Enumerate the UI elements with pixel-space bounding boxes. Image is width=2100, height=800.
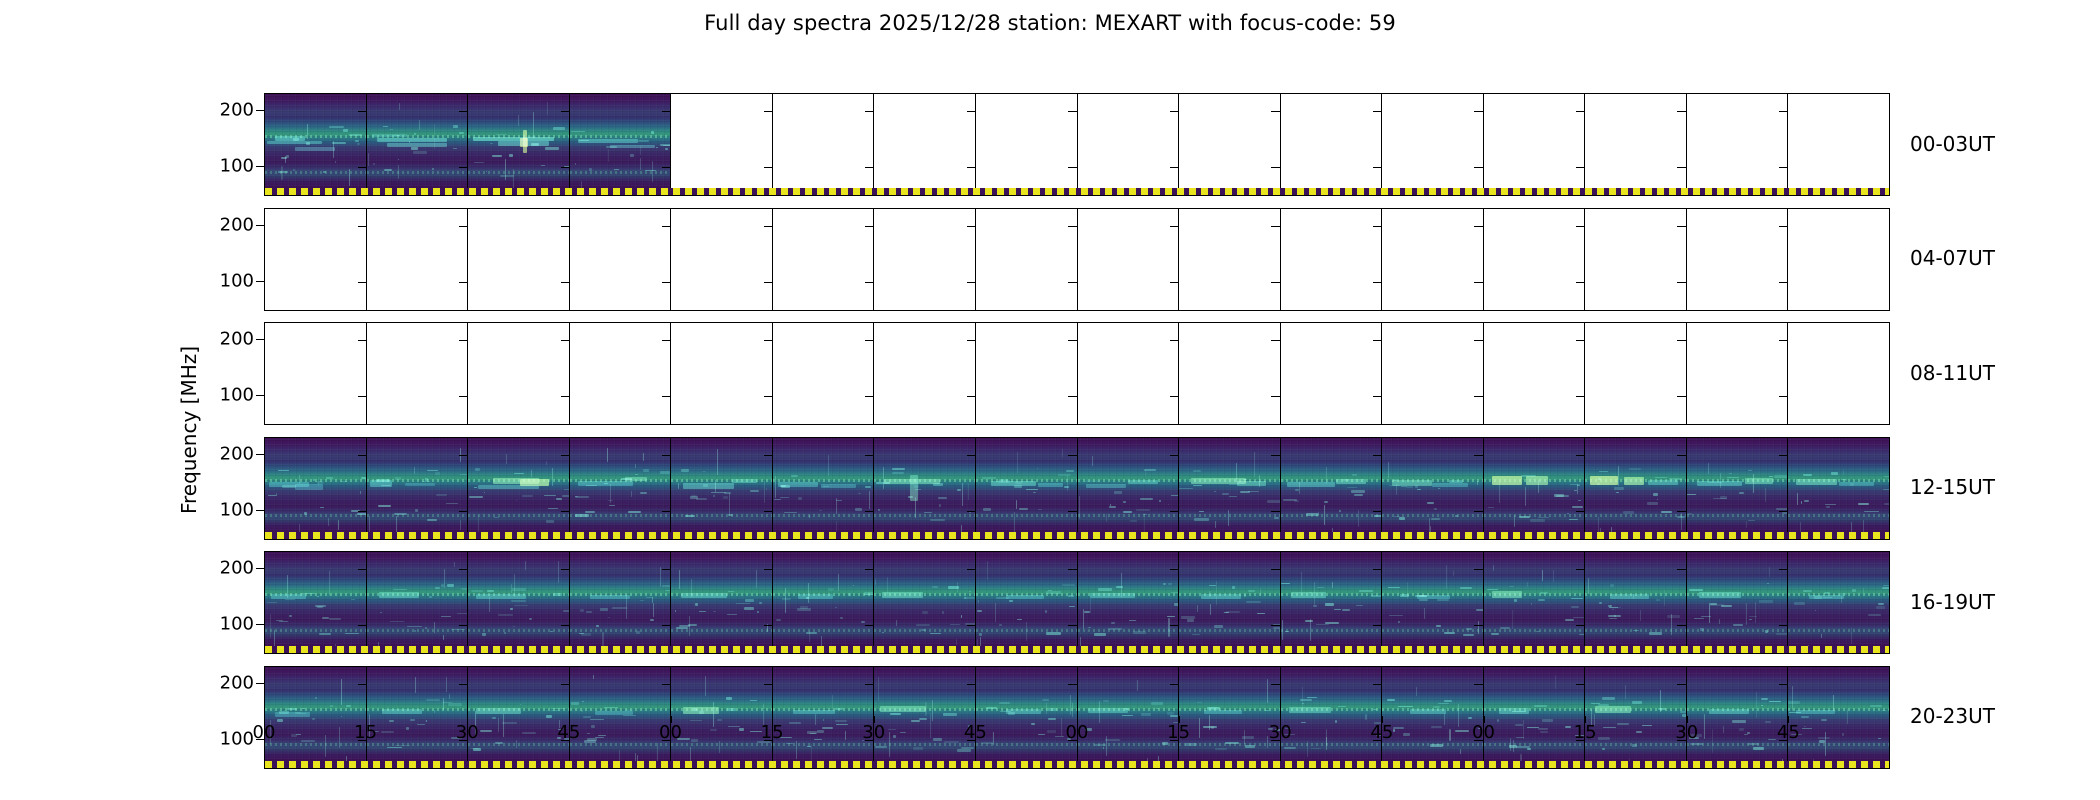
minor-tick xyxy=(1576,569,1585,570)
minor-tick xyxy=(1677,625,1686,626)
spectra-row-08-11ut[interactable] xyxy=(264,322,1890,425)
hour-panel[interactable] xyxy=(1281,552,1383,653)
minor-tick xyxy=(1779,511,1788,512)
hour-panel[interactable] xyxy=(468,438,570,539)
hour-panel[interactable] xyxy=(1382,94,1484,195)
minor-tick xyxy=(662,111,671,112)
minor-tick xyxy=(1779,226,1788,227)
low-frequency-marker-line xyxy=(265,532,1889,539)
hour-panel[interactable] xyxy=(1078,552,1180,653)
spectrogram-image xyxy=(976,438,1077,539)
hour-panel[interactable] xyxy=(1382,438,1484,539)
minor-tick xyxy=(1576,226,1585,227)
hour-panel[interactable] xyxy=(1281,323,1383,424)
row-time-label: 20-23UT xyxy=(1910,704,1995,728)
minor-tick xyxy=(1170,625,1179,626)
hour-panels xyxy=(265,438,1889,539)
row-axes[interactable] xyxy=(264,322,1890,425)
y-tick-mark xyxy=(256,568,264,569)
spectrogram-image xyxy=(570,552,671,653)
minor-tick xyxy=(764,684,773,685)
minor-tick xyxy=(1474,226,1483,227)
low-frequency-marker-line xyxy=(265,188,1889,195)
hour-panel[interactable] xyxy=(976,552,1078,653)
spectrogram-image xyxy=(671,552,772,653)
minor-tick xyxy=(967,455,976,456)
hour-panels xyxy=(265,323,1889,424)
x-tick-label: 15 xyxy=(761,722,784,743)
hour-panel[interactable] xyxy=(1585,552,1687,653)
hour-panel[interactable] xyxy=(671,209,773,310)
y-axis-label-text: Frequency [MHz] xyxy=(177,346,201,514)
minor-tick xyxy=(1677,684,1686,685)
spectrogram-image xyxy=(671,438,772,539)
spectrogram-image xyxy=(1687,552,1788,653)
minor-tick xyxy=(1373,282,1382,283)
hour-panel[interactable] xyxy=(265,552,367,653)
hour-panel[interactable] xyxy=(468,323,570,424)
minor-tick xyxy=(967,226,976,227)
y-tick-mark xyxy=(256,166,264,167)
minor-tick xyxy=(1170,511,1179,512)
minor-tick xyxy=(865,282,874,283)
y-tick-mark xyxy=(256,339,264,340)
spectra-row-16-19ut[interactable] xyxy=(264,551,1890,654)
y-tick-mark xyxy=(256,683,264,684)
minor-tick xyxy=(662,455,671,456)
row-time-label: 16-19UT xyxy=(1910,590,1995,614)
hour-panel[interactable] xyxy=(1484,323,1586,424)
minor-tick xyxy=(358,511,367,512)
hour-panel[interactable] xyxy=(1687,438,1789,539)
hour-panel[interactable] xyxy=(874,209,976,310)
spectrogram-image xyxy=(1179,552,1280,653)
hour-panel[interactable] xyxy=(976,94,1078,195)
spectrogram-image xyxy=(570,94,671,195)
spectrogram-image xyxy=(367,552,468,653)
row-axes[interactable] xyxy=(264,93,1890,196)
y-tick-label: 200 xyxy=(220,443,254,464)
minor-tick xyxy=(1779,684,1788,685)
spectrogram-image xyxy=(265,552,366,653)
minor-tick xyxy=(1271,396,1280,397)
minor-tick xyxy=(1677,569,1686,570)
minor-tick xyxy=(1373,111,1382,112)
row-axes[interactable] xyxy=(264,437,1890,540)
x-tick-label: 45 xyxy=(557,722,580,743)
minor-tick xyxy=(1474,396,1483,397)
hour-panel[interactable] xyxy=(1484,552,1586,653)
minor-tick xyxy=(1576,684,1585,685)
spectra-row-12-15ut[interactable] xyxy=(264,437,1890,540)
y-axis-label: Frequency [MHz] xyxy=(176,300,202,560)
minor-tick xyxy=(561,340,570,341)
minor-tick xyxy=(1271,569,1280,570)
minor-tick xyxy=(358,226,367,227)
minor-tick xyxy=(1677,396,1686,397)
hour-panel[interactable] xyxy=(874,323,976,424)
hour-panel[interactable] xyxy=(570,209,672,310)
hour-panel[interactable] xyxy=(367,209,469,310)
minor-tick xyxy=(662,340,671,341)
minor-tick xyxy=(967,569,976,570)
y-tick-mark xyxy=(256,739,264,740)
minor-tick xyxy=(865,569,874,570)
spectrogram-image xyxy=(1179,438,1280,539)
minor-tick xyxy=(967,340,976,341)
hour-panel[interactable] xyxy=(1382,209,1484,310)
minor-tick xyxy=(1170,111,1179,112)
hour-panel[interactable] xyxy=(1687,94,1789,195)
minor-tick xyxy=(1474,340,1483,341)
minor-tick xyxy=(1373,625,1382,626)
hour-panel[interactable] xyxy=(1484,94,1586,195)
minor-tick xyxy=(1576,396,1585,397)
x-tick-label: 45 xyxy=(1777,722,1800,743)
minor-tick xyxy=(1576,455,1585,456)
minor-tick xyxy=(1779,282,1788,283)
y-tick-label: 200 xyxy=(220,558,254,579)
minor-tick xyxy=(1170,340,1179,341)
minor-tick xyxy=(1576,511,1585,512)
y-tick-mark xyxy=(256,110,264,111)
hour-panel[interactable] xyxy=(1788,209,1889,310)
spectrogram-image xyxy=(265,94,366,195)
minor-tick xyxy=(764,511,773,512)
minor-tick xyxy=(662,396,671,397)
minor-tick xyxy=(662,282,671,283)
spectrogram-image xyxy=(1484,552,1585,653)
low-frequency-marker-line xyxy=(265,761,1889,768)
hour-panel[interactable] xyxy=(773,323,875,424)
hour-panel[interactable] xyxy=(1382,323,1484,424)
x-tick-label: 00 xyxy=(1066,722,1089,743)
low-frequency-marker-line xyxy=(265,646,1889,653)
y-tick-label: 100 xyxy=(220,614,254,635)
minor-tick xyxy=(358,625,367,626)
hour-panel[interactable] xyxy=(1078,209,1180,310)
hour-panel[interactable] xyxy=(1078,323,1180,424)
hour-panel[interactable] xyxy=(265,94,367,195)
hour-panel[interactable] xyxy=(1484,438,1586,539)
hour-panels xyxy=(265,94,1889,195)
minor-tick xyxy=(1271,455,1280,456)
spectrogram-image xyxy=(265,438,366,539)
minor-tick xyxy=(1271,684,1280,685)
minor-tick xyxy=(1474,511,1483,512)
minor-tick xyxy=(1271,167,1280,168)
hour-panel[interactable] xyxy=(976,438,1078,539)
minor-tick xyxy=(865,455,874,456)
minor-tick xyxy=(1779,396,1788,397)
hour-panel[interactable] xyxy=(1179,209,1281,310)
hour-panel[interactable] xyxy=(570,438,672,539)
minor-tick xyxy=(358,396,367,397)
hour-panel[interactable] xyxy=(1585,209,1687,310)
hour-panel[interactable] xyxy=(1179,94,1281,195)
y-tick-label: 100 xyxy=(220,156,254,177)
hour-panel[interactable] xyxy=(1788,552,1889,653)
minor-tick xyxy=(865,625,874,626)
minor-tick xyxy=(1373,396,1382,397)
minor-tick xyxy=(764,226,773,227)
spectrogram-image xyxy=(468,94,569,195)
x-axis-ticks: 00153045001530450015304500153045 xyxy=(264,715,1890,749)
hour-panel[interactable] xyxy=(1484,209,1586,310)
minor-tick xyxy=(1474,111,1483,112)
minor-tick xyxy=(358,111,367,112)
y-tick-mark xyxy=(256,225,264,226)
minor-tick xyxy=(561,167,570,168)
minor-tick xyxy=(561,282,570,283)
minor-tick xyxy=(459,511,468,512)
minor-tick xyxy=(764,167,773,168)
minor-tick xyxy=(865,684,874,685)
spectrogram-image xyxy=(1078,438,1179,539)
hour-panel[interactable] xyxy=(773,438,875,539)
minor-tick xyxy=(662,684,671,685)
x-tick-label: 30 xyxy=(456,722,479,743)
minor-tick xyxy=(459,340,468,341)
hour-panel[interactable] xyxy=(1585,94,1687,195)
hour-panel[interactable] xyxy=(874,94,976,195)
hour-panel[interactable] xyxy=(1281,209,1383,310)
hour-panel[interactable] xyxy=(367,552,469,653)
hour-panel[interactable] xyxy=(265,323,367,424)
minor-tick xyxy=(1677,340,1686,341)
minor-tick xyxy=(561,111,570,112)
minor-tick xyxy=(764,340,773,341)
hour-panel[interactable] xyxy=(1179,323,1281,424)
y-tick-label: 100 xyxy=(220,499,254,520)
minor-tick xyxy=(764,282,773,283)
minor-tick xyxy=(662,167,671,168)
row-axes[interactable] xyxy=(264,208,1890,311)
minor-tick xyxy=(1170,282,1179,283)
hour-panel[interactable] xyxy=(1078,94,1180,195)
minor-tick xyxy=(561,226,570,227)
spectrogram-image xyxy=(468,552,569,653)
minor-tick xyxy=(1373,226,1382,227)
minor-tick xyxy=(865,226,874,227)
minor-tick xyxy=(1474,455,1483,456)
minor-tick xyxy=(1068,684,1077,685)
minor-tick xyxy=(1677,111,1686,112)
minor-tick xyxy=(1474,167,1483,168)
hour-panel[interactable] xyxy=(468,209,570,310)
minor-tick xyxy=(967,111,976,112)
hour-panel[interactable] xyxy=(1078,438,1180,539)
spectrogram-image xyxy=(1078,552,1179,653)
spectrogram-image xyxy=(1788,552,1889,653)
minor-tick xyxy=(1068,111,1077,112)
spectrogram-image xyxy=(1484,438,1585,539)
minor-tick xyxy=(358,340,367,341)
hour-panel[interactable] xyxy=(1687,552,1789,653)
hour-panel[interactable] xyxy=(468,94,570,195)
minor-tick xyxy=(662,511,671,512)
x-tick-label: 00 xyxy=(253,722,276,743)
minor-tick xyxy=(459,684,468,685)
minor-tick xyxy=(1373,455,1382,456)
minor-tick xyxy=(865,111,874,112)
hour-panel[interactable] xyxy=(570,94,672,195)
minor-tick xyxy=(1373,684,1382,685)
minor-tick xyxy=(459,282,468,283)
minor-tick xyxy=(967,511,976,512)
minor-tick xyxy=(1779,111,1788,112)
hour-panel[interactable] xyxy=(671,323,773,424)
minor-tick xyxy=(1677,511,1686,512)
hour-panel[interactable] xyxy=(367,438,469,539)
minor-tick xyxy=(1068,569,1077,570)
minor-tick xyxy=(1271,511,1280,512)
hour-panel[interactable] xyxy=(1179,552,1281,653)
minor-tick xyxy=(1373,569,1382,570)
hour-panel[interactable] xyxy=(1281,438,1383,539)
x-tick-label: 45 xyxy=(1370,722,1393,743)
minor-tick xyxy=(662,569,671,570)
spectrogram-image xyxy=(367,438,468,539)
minor-tick xyxy=(1068,282,1077,283)
spectrogram-image xyxy=(976,552,1077,653)
minor-tick xyxy=(967,625,976,626)
hour-panel[interactable] xyxy=(976,323,1078,424)
spectrogram-image xyxy=(1585,552,1686,653)
spectrogram-image xyxy=(570,438,671,539)
hour-panel[interactable] xyxy=(1382,552,1484,653)
row-axes[interactable] xyxy=(264,551,1890,654)
minor-tick xyxy=(1677,167,1686,168)
row-time-label: 04-07UT xyxy=(1910,246,1995,270)
minor-tick xyxy=(1271,226,1280,227)
hour-panels xyxy=(265,209,1889,310)
minor-tick xyxy=(1779,569,1788,570)
hour-panel[interactable] xyxy=(671,438,773,539)
hour-panel[interactable] xyxy=(1687,209,1789,310)
spectrogram-image xyxy=(1585,438,1686,539)
minor-tick xyxy=(1170,684,1179,685)
minor-tick xyxy=(1068,340,1077,341)
minor-tick xyxy=(1474,625,1483,626)
minor-tick xyxy=(1068,226,1077,227)
minor-tick xyxy=(358,455,367,456)
hour-panel[interactable] xyxy=(265,209,367,310)
minor-tick xyxy=(459,625,468,626)
x-tick-label: 45 xyxy=(964,722,987,743)
hour-panel[interactable] xyxy=(265,438,367,539)
page-title: Full day spectra 2025/12/28 station: MEX… xyxy=(0,11,2100,35)
minor-tick xyxy=(1576,340,1585,341)
hour-panel[interactable] xyxy=(468,552,570,653)
minor-tick xyxy=(459,167,468,168)
minor-tick xyxy=(1474,282,1483,283)
minor-tick xyxy=(1779,340,1788,341)
minor-tick xyxy=(1271,111,1280,112)
minor-tick xyxy=(561,396,570,397)
minor-tick xyxy=(967,167,976,168)
y-tick-label: 100 xyxy=(220,385,254,406)
hour-panel[interactable] xyxy=(773,209,875,310)
hour-panel[interactable] xyxy=(773,552,875,653)
hour-panel[interactable] xyxy=(570,323,672,424)
minor-tick xyxy=(1576,282,1585,283)
x-tick-label: 15 xyxy=(1574,722,1597,743)
row-time-label: 08-11UT xyxy=(1910,361,1995,385)
spectra-row-04-07ut[interactable] xyxy=(264,208,1890,311)
minor-tick xyxy=(1068,625,1077,626)
minor-tick xyxy=(1373,511,1382,512)
minor-tick xyxy=(764,455,773,456)
hour-panel[interactable] xyxy=(976,209,1078,310)
minor-tick xyxy=(561,455,570,456)
y-tick-mark xyxy=(256,510,264,511)
minor-tick xyxy=(1170,226,1179,227)
minor-tick xyxy=(459,226,468,227)
minor-tick xyxy=(561,684,570,685)
hour-panel[interactable] xyxy=(1788,438,1889,539)
minor-tick xyxy=(358,167,367,168)
hour-panel[interactable] xyxy=(1281,94,1383,195)
minor-tick xyxy=(1170,569,1179,570)
hour-panel[interactable] xyxy=(570,552,672,653)
row-time-label: 00-03UT xyxy=(1910,132,1995,156)
spectra-row-00-03ut[interactable] xyxy=(264,93,1890,196)
hour-panel[interactable] xyxy=(1179,438,1281,539)
minor-tick xyxy=(662,625,671,626)
hour-panel[interactable] xyxy=(367,323,469,424)
minor-tick xyxy=(1677,282,1686,283)
hour-panel[interactable] xyxy=(1687,323,1789,424)
y-tick-mark xyxy=(256,624,264,625)
hour-panel[interactable] xyxy=(1788,323,1889,424)
hour-panel[interactable] xyxy=(1585,323,1687,424)
hour-panel[interactable] xyxy=(367,94,469,195)
minor-tick xyxy=(358,684,367,685)
x-tick-label: 00 xyxy=(1472,722,1495,743)
minor-tick xyxy=(967,282,976,283)
minor-tick xyxy=(865,511,874,512)
hour-panel[interactable] xyxy=(874,438,976,539)
hour-panel[interactable] xyxy=(1585,438,1687,539)
y-tick-label: 200 xyxy=(220,672,254,693)
minor-tick xyxy=(764,111,773,112)
y-tick-mark xyxy=(256,454,264,455)
minor-tick xyxy=(561,569,570,570)
minor-tick xyxy=(1271,282,1280,283)
x-tick-label: 00 xyxy=(659,722,682,743)
x-tick-label: 30 xyxy=(1269,722,1292,743)
minor-tick xyxy=(561,625,570,626)
hour-panel[interactable] xyxy=(671,552,773,653)
minor-tick xyxy=(1170,455,1179,456)
spectrogram-image xyxy=(1281,552,1382,653)
hour-panel[interactable] xyxy=(1788,94,1889,195)
spectrogram-image xyxy=(1382,438,1483,539)
minor-tick xyxy=(967,684,976,685)
hour-panel[interactable] xyxy=(671,94,773,195)
spectrogram-image xyxy=(874,552,975,653)
hour-panel[interactable] xyxy=(773,94,875,195)
hour-panel[interactable] xyxy=(874,552,976,653)
spectrogram-image xyxy=(874,438,975,539)
minor-tick xyxy=(459,455,468,456)
minor-tick xyxy=(1779,167,1788,168)
y-tick-label: 200 xyxy=(220,100,254,121)
minor-tick xyxy=(1068,167,1077,168)
minor-tick xyxy=(459,111,468,112)
minor-tick xyxy=(1576,167,1585,168)
